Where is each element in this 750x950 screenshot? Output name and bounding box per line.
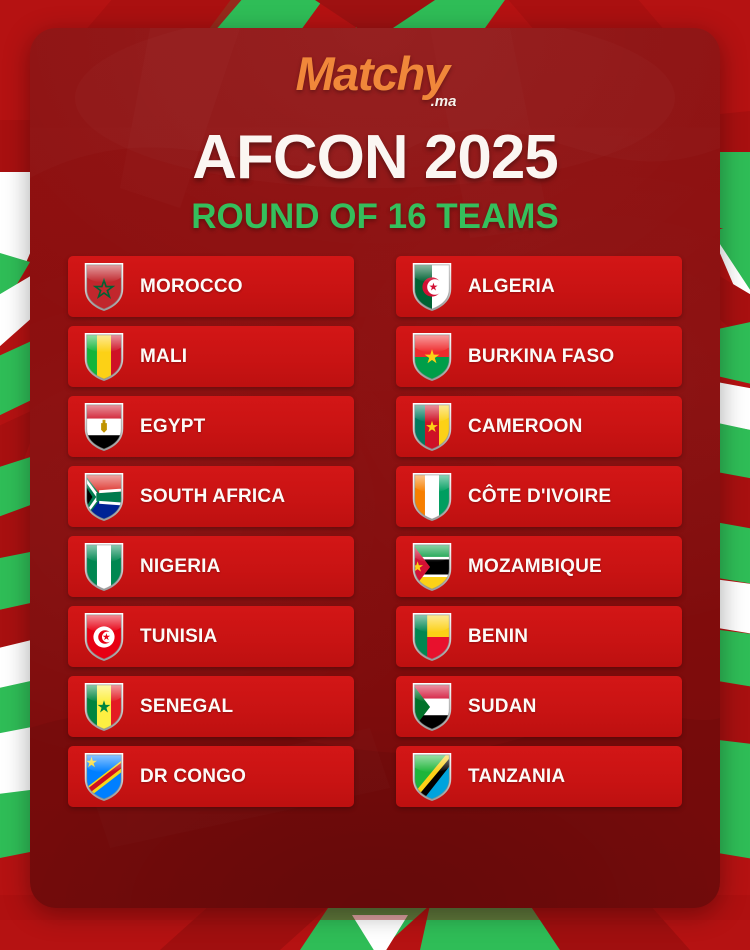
team-name: MOZAMBIQUE	[468, 557, 602, 576]
egypt-flag-icon	[82, 402, 126, 452]
sudan-flag-icon	[410, 682, 454, 732]
logo-tld: .ma	[431, 94, 457, 109]
south-africa-flag-icon	[82, 472, 126, 522]
senegal-flag-icon	[82, 682, 126, 732]
dr-congo-flag-icon	[82, 752, 126, 802]
nigeria-flag-icon	[82, 542, 126, 592]
main-poster-card: Matchy .ma AFCON 2025 ROUND OF 16 TEAMS …	[30, 28, 720, 908]
team-name: CAMEROON	[468, 417, 583, 436]
team-row[interactable]: MALI	[68, 326, 354, 387]
mali-flag-icon	[82, 332, 126, 382]
team-row[interactable]: MOROCCO	[68, 256, 354, 317]
cote-divoire-flag-icon	[410, 472, 454, 522]
logo-wordmark: Matchy	[296, 47, 449, 100]
team-name: CÔTE D'IVOIRE	[468, 487, 611, 506]
team-row[interactable]: EGYPT	[68, 396, 354, 457]
team-row[interactable]: TANZANIA	[396, 746, 682, 807]
team-row[interactable]: CÔTE D'IVOIRE	[396, 466, 682, 527]
team-name: EGYPT	[140, 417, 205, 436]
page-subtitle: ROUND OF 16 TEAMS	[30, 199, 720, 234]
burkina-faso-flag-icon	[410, 332, 454, 382]
team-row[interactable]: SUDAN	[396, 676, 682, 737]
team-name: SUDAN	[468, 697, 537, 716]
team-row[interactable]: DR CONGO	[68, 746, 354, 807]
tunisia-flag-icon	[82, 612, 126, 662]
team-row[interactable]: BURKINA FASO	[396, 326, 682, 387]
team-row[interactable]: SENEGAL	[68, 676, 354, 737]
team-name: BURKINA FASO	[468, 347, 614, 366]
team-name: TANZANIA	[468, 767, 565, 786]
morocco-flag-icon	[82, 262, 126, 312]
team-name: MOROCCO	[140, 277, 243, 296]
team-name: ALGERIA	[468, 277, 555, 296]
team-row[interactable]: TUNISIA	[68, 606, 354, 667]
team-row[interactable]: BENIN	[396, 606, 682, 667]
mozambique-flag-icon	[410, 542, 454, 592]
algeria-flag-icon	[410, 262, 454, 312]
page-title: AFCON 2025	[30, 127, 720, 189]
team-name: MALI	[140, 347, 187, 366]
cameroon-flag-icon	[410, 402, 454, 452]
team-name: SENEGAL	[140, 697, 233, 716]
team-name: TUNISIA	[140, 627, 217, 646]
poster-header: Matchy .ma AFCON 2025 ROUND OF 16 TEAMS	[30, 28, 720, 234]
team-name: BENIN	[468, 627, 528, 646]
team-row[interactable]: SOUTH AFRICA	[68, 466, 354, 527]
tanzania-flag-icon	[410, 752, 454, 802]
matchy-logo: Matchy .ma	[296, 50, 455, 97]
team-name: NIGERIA	[140, 557, 221, 576]
teams-grid: MOROCCO ALGERIA	[68, 256, 682, 807]
team-row[interactable]: ALGERIA	[396, 256, 682, 317]
team-row[interactable]: NIGERIA	[68, 536, 354, 597]
team-name: DR CONGO	[140, 767, 246, 786]
team-row[interactable]: CAMEROON	[396, 396, 682, 457]
benin-flag-icon	[410, 612, 454, 662]
team-row[interactable]: MOZAMBIQUE	[396, 536, 682, 597]
team-name: SOUTH AFRICA	[140, 487, 285, 506]
